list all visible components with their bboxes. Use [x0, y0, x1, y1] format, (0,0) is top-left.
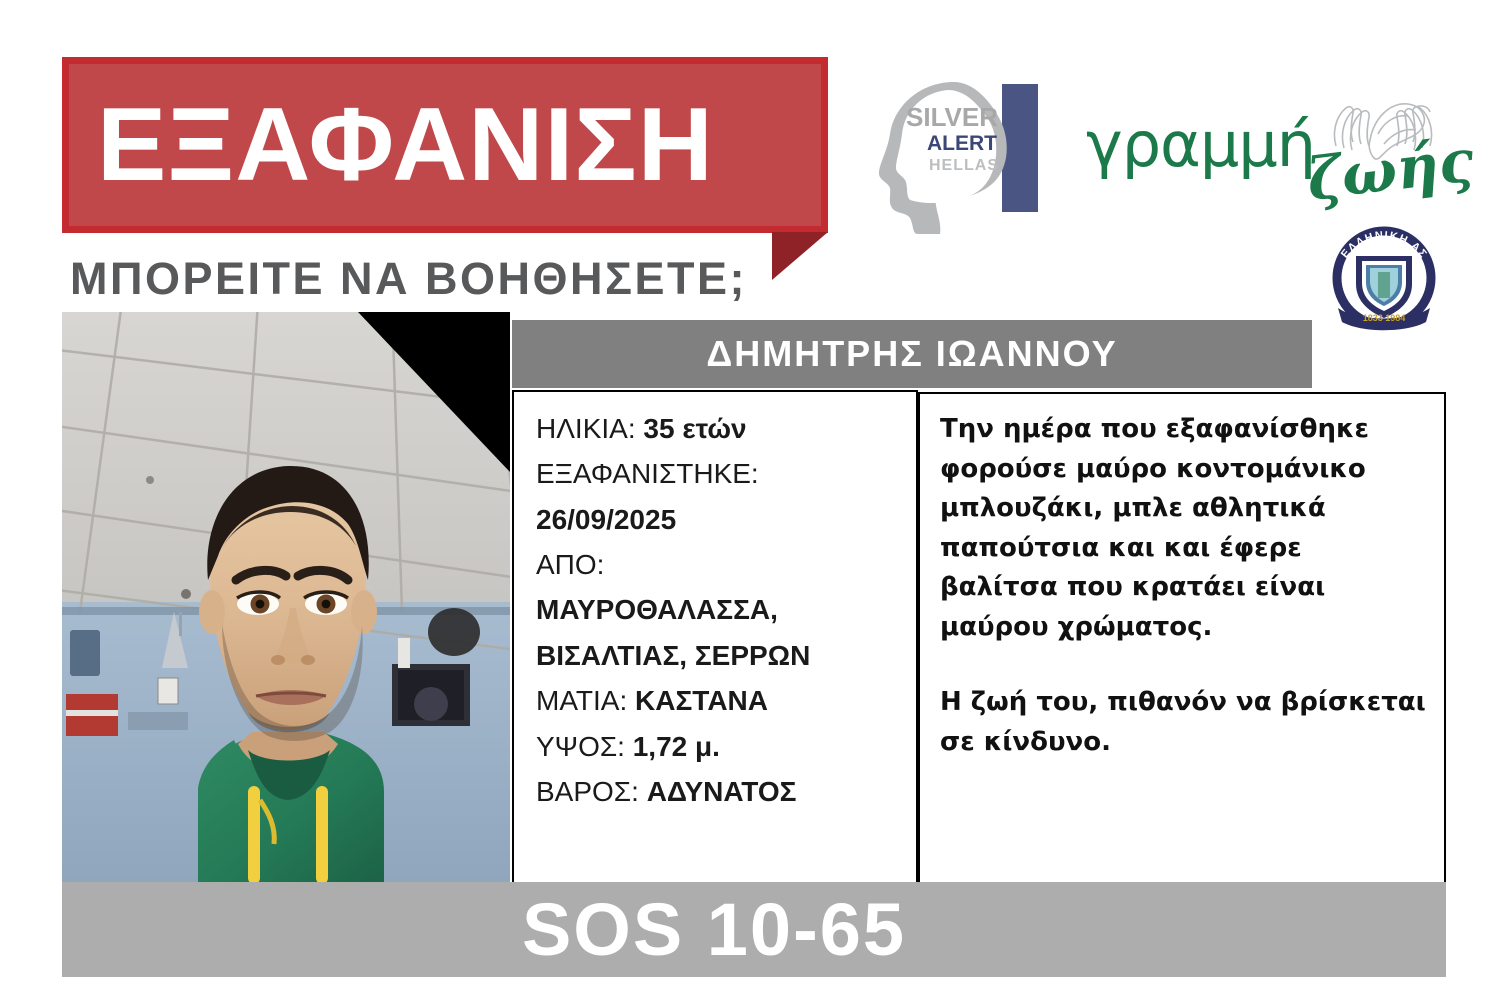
detail-row-weight: ΒΑΡΟΣ: ΑΔΥΝΑΤΟΣ	[536, 769, 916, 814]
alert-headline: ΕΞΑΦΑΝΙΣΗ	[69, 93, 714, 197]
sos-footer-bar: SOS 10-65	[62, 882, 1446, 977]
detail-row-from-line2: ΒΙΣΑΛΤΙΑΣ, ΣΕΡΡΩΝ	[536, 633, 916, 678]
person-name: ΔΗΜΗΤΡΗΣ ΙΩΑΝΝΟΥ	[706, 333, 1117, 375]
sos-hotline-number: SOS 10-65	[522, 887, 906, 972]
detail-label-height: ΥΨΟΣ:	[536, 731, 633, 762]
detail-row-age: ΗΛΙΚΙΑ: 35 ετών	[536, 406, 916, 451]
detail-value-disappeared-date: 26/09/2025	[536, 504, 676, 535]
life-line-word1: γραμμή	[1086, 108, 1315, 181]
help-question-text: ΜΠΟΡΕΙΤΕ ΝΑ ΒΟΗΘΗΣΕΤΕ;	[70, 253, 747, 305]
detail-row-from-label: ΑΠΟ:	[536, 542, 916, 587]
detail-label-from: ΑΠΟ:	[536, 549, 604, 580]
detail-value-from-line1: ΜΑΥΡΟΘΑΛΑΣΣΑ,	[536, 594, 778, 625]
detail-value-weight: ΑΔΥΝΑΤΟΣ	[647, 776, 797, 807]
person-name-header: ΔΗΜΗΤΡΗΣ ΙΩΑΝΝΟΥ	[512, 320, 1312, 388]
description-panel: Την ημέρα που εξαφανίσθηκε φορούσε μαύρο…	[918, 392, 1446, 884]
person-details-panel: ΗΛΙΚΙΑ: 35 ετών ΕΞΑΦΑΝΙΣΤΗΚΕ: 26/09/2025…	[512, 390, 918, 884]
silver-alert-line2: ALERT	[927, 132, 997, 155]
detail-row-from-line1: ΜΑΥΡΟΘΑΛΑΣΣΑ,	[536, 587, 916, 632]
life-line-logo: γραμμή ζωής	[1078, 88, 1478, 220]
missing-person-poster: ΕΞΑΦΑΝΙΣΗ ΜΠΟΡΕΙΤΕ ΝΑ ΒΟΗΘΗΣΕΤΕ; SILVER …	[0, 0, 1500, 1000]
detail-row-disappeared-label: ΕΞΑΦΑΝΙΣΤΗΚΕ:	[536, 451, 916, 496]
detail-row-disappeared-date: 26/09/2025	[536, 497, 916, 542]
silver-alert-line3: HELLAS	[929, 157, 999, 174]
detail-row-eyes: ΜΑΤΙΑ: ΚΑΣΤΑΝΑ	[536, 678, 916, 723]
missing-person-photo	[62, 312, 510, 884]
detail-label-disappeared: ΕΞΑΦΑΝΙΣΤΗΚΕ:	[536, 458, 759, 489]
silver-alert-logo: SILVER ALERT HELLAS	[876, 76, 1048, 236]
detail-label-age: ΗΛΙΚΙΑ:	[536, 413, 643, 444]
description-paragraph-clothing: Την ημέρα που εξαφανίσθηκε φορούσε μαύρο…	[940, 410, 1428, 647]
life-line-word2: ζωής	[1303, 126, 1478, 214]
silver-alert-line1: SILVER	[906, 102, 998, 132]
detail-value-age: 35 ετών	[643, 413, 746, 444]
svg-text:1833 1984: 1833 1984	[1363, 313, 1406, 323]
detail-label-weight: ΒΑΡΟΣ:	[536, 776, 647, 807]
detail-row-height: ΥΨΟΣ: 1,72 μ.	[536, 724, 916, 769]
description-paragraph-danger: Η ζωή του, πιθανόν να βρίσκεται σε κίνδυ…	[940, 683, 1428, 762]
alert-banner: ΕΞΑΦΑΝΙΣΗ	[62, 57, 828, 233]
detail-value-from-line2: ΒΙΣΑΛΤΙΑΣ, ΣΕΡΡΩΝ	[536, 640, 810, 671]
detail-value-eyes: ΚΑΣΤΑΝΑ	[635, 685, 768, 716]
detail-value-height: 1,72 μ.	[633, 731, 720, 762]
detail-label-eyes: ΜΑΤΙΑ:	[536, 685, 635, 716]
hellenic-police-badge-icon: ΕΛΛΗΝΙΚΗ ΑΣΤΥΝΟΜΙΑ 1833 1984	[1308, 222, 1460, 340]
description-spacer	[940, 647, 1428, 683]
banner-ribbon-tail	[772, 232, 828, 280]
